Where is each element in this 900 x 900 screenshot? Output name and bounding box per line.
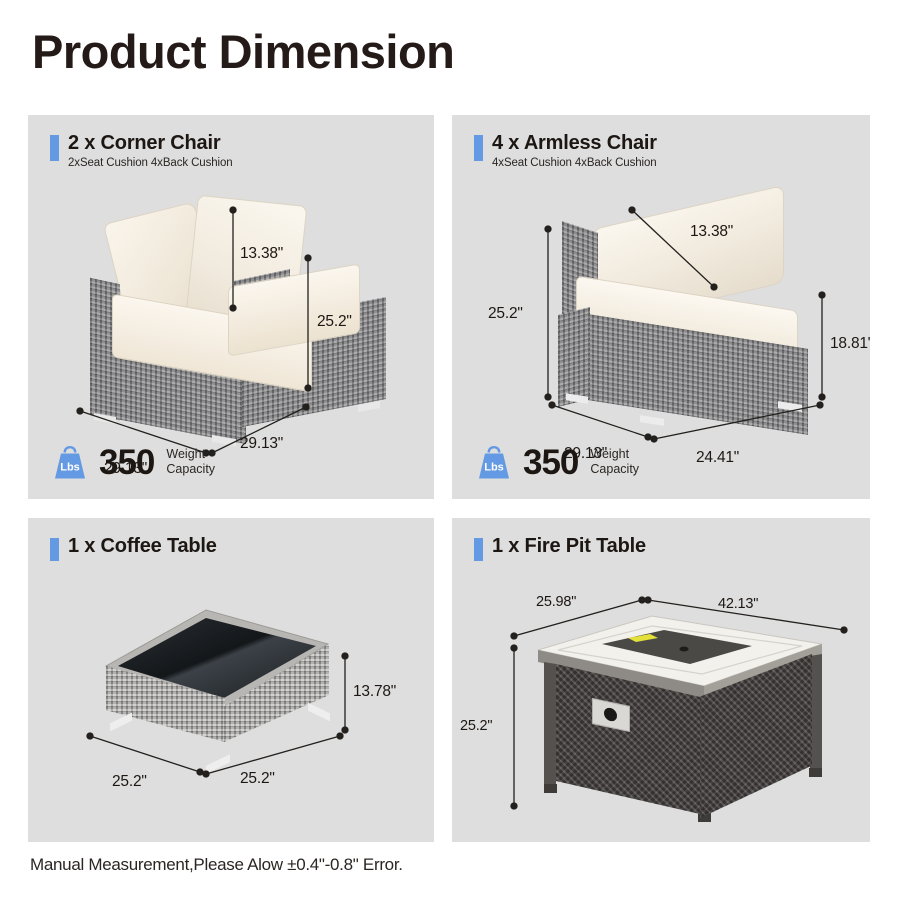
weight-value: 350 (523, 445, 578, 480)
weight-icon-label: Lbs (484, 462, 504, 474)
wicker-face-left (106, 666, 225, 742)
dimension-label: 25.2" (240, 770, 275, 788)
weight-label-line1: Weight (166, 447, 215, 462)
dimension-label: 29.13" (240, 435, 283, 453)
coffee-table-body (28, 518, 434, 842)
chair-foot-mid (640, 415, 664, 426)
product-illustration-armless-chair: 13.38" 25.2" 18.81" 29.13" 24.41" (452, 115, 870, 499)
firepit-side-face (700, 654, 812, 818)
product-illustration-corner-chair: 13.38" 25.2" 29.13" 29.13" (28, 115, 434, 499)
firepit-front-face (556, 664, 700, 814)
weight-label-line2: Capacity (166, 462, 215, 477)
footer-note: Manual Measurement,Please Alow ±0.4"-0.8… (30, 855, 403, 875)
table-foot-right (308, 703, 330, 722)
weight-label-line2: Capacity (590, 462, 639, 477)
dimension-label: 25.98" (536, 594, 576, 610)
dimension-lines-coffee-table (28, 518, 434, 842)
table-foot-left (110, 713, 132, 732)
dimension-label: 42.13" (718, 596, 758, 612)
dimension-label: 25.2" (112, 773, 147, 791)
panel-corner-chair: 2 x Corner Chair 2xSeat Cushion 4xBack C… (28, 115, 434, 499)
wicker-face-right (224, 644, 329, 742)
dimension-label: 25.2" (460, 718, 492, 734)
dimension-label: 25.2" (317, 313, 352, 331)
weight-icon: Lbs (50, 443, 90, 481)
dimension-label: 13.38" (690, 223, 733, 241)
panel-coffee-table: 1 x Coffee Table (28, 518, 434, 842)
weight-value: 350 (99, 445, 154, 480)
product-illustration-coffee-table: 13.78" 25.2" 25.2" (28, 518, 434, 842)
weight-icon: Lbs (474, 443, 514, 481)
panel-armless-chair: 4 x Armless Chair 4xSeat Cushion 4xBack … (452, 115, 870, 499)
table-foot-front (206, 754, 230, 774)
dimension-label: 24.41" (696, 449, 739, 467)
wicker-frame-left-side (558, 307, 590, 407)
weight-label-line1: Weight (590, 447, 639, 462)
page-title: Product Dimension (32, 26, 454, 78)
weight-capacity-badge: Lbs 350 Weight Capacity (474, 443, 639, 481)
product-illustration-fire-pit-table: 25.98" 42.13" 25.2" (452, 518, 870, 842)
dimension-label: 25.2" (488, 305, 523, 323)
panel-fire-pit-table: 1 x Fire Pit Table (452, 518, 870, 842)
weight-icon-label: Lbs (60, 462, 80, 474)
dimension-label: 13.38" (240, 245, 283, 263)
dimension-label: 13.78" (353, 683, 396, 701)
dimension-label: 18.81" (830, 335, 870, 353)
weight-capacity-badge: Lbs 350 Weight Capacity (50, 443, 215, 481)
